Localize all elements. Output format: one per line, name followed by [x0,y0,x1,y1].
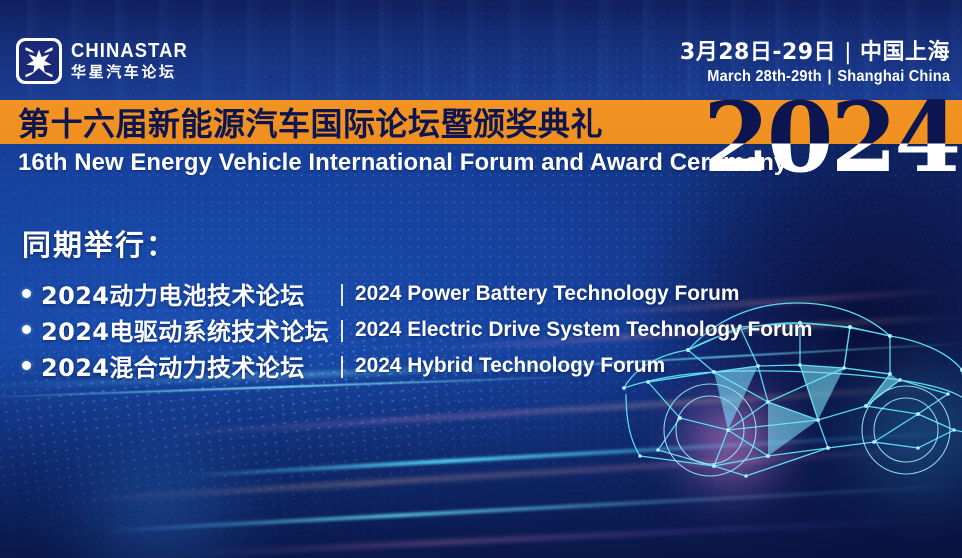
forum-name-en: 2024 Electric Drive System Technology Fo… [355,317,812,342]
meta-separator: | [836,40,860,65]
event-location-cn: 中国上海 [860,40,950,65]
star-emblem-icon [16,38,62,84]
forum-name-cn: 2024混合动力技术论坛 [41,348,329,383]
event-meta: 3月28日-29日|中国上海 March 28th-29th|Shanghai … [680,40,950,85]
event-location-en: Shanghai China [837,68,950,85]
forum-separator: | [329,354,355,377]
agenda-heading: 同期举行： [22,222,827,264]
page-title-cn: 第十六届新能源汽车国际论坛暨颁奖典礼 [18,100,603,144]
forum-separator: | [329,282,355,305]
forum-name-cn: 2024动力电池技术论坛 [41,276,329,311]
conference-banner: CHINASTAR 华星汽车论坛 3月28日-29日|中国上海 March 28… [0,0,962,558]
meta-separator: | [822,68,838,85]
forum-name-en: 2024 Power Battery Technology Forum [355,281,739,306]
brand-name-cn: 华星汽车论坛 [71,64,198,81]
event-date-cn: 3月28日-29日 [680,40,836,65]
forum-separator: | [329,318,355,341]
list-item: 2024动力电池技术论坛 | 2024 Power Battery Techno… [22,278,827,308]
forum-name-en: 2024 Hybrid Technology Forum [355,353,665,378]
bullet-icon [22,325,31,334]
bullet-icon [22,289,31,298]
forum-list: 2024动力电池技术论坛 | 2024 Power Battery Techno… [22,278,827,380]
list-item: 2024混合动力技术论坛 | 2024 Hybrid Technology Fo… [22,350,827,380]
list-item: 2024电驱动系统技术论坛 | 2024 Electric Drive Syst… [22,314,827,344]
agenda-section: 同期举行： 2024动力电池技术论坛 | 2024 Power Battery … [22,222,827,380]
event-date-location-en: March 28th-29th|Shanghai China [696,68,950,85]
brand-logo[interactable]: CHINASTAR 华星汽车论坛 [16,38,198,84]
banner-header: CHINASTAR 华星汽车论坛 3月28日-29日|中国上海 March 28… [0,0,962,100]
bullet-icon [22,361,31,370]
forum-name-cn: 2024电驱动系统技术论坛 [41,312,329,347]
brand-name-en: CHINASTAR [71,41,188,62]
page-title-en: 16th New Energy Vehicle International Fo… [18,146,787,180]
event-date-location-cn: 3月28日-29日|中国上海 [680,40,950,65]
event-date-en: March 28th-29th [707,68,822,85]
brand-wordmark: CHINASTAR 华星汽车论坛 [71,41,198,81]
